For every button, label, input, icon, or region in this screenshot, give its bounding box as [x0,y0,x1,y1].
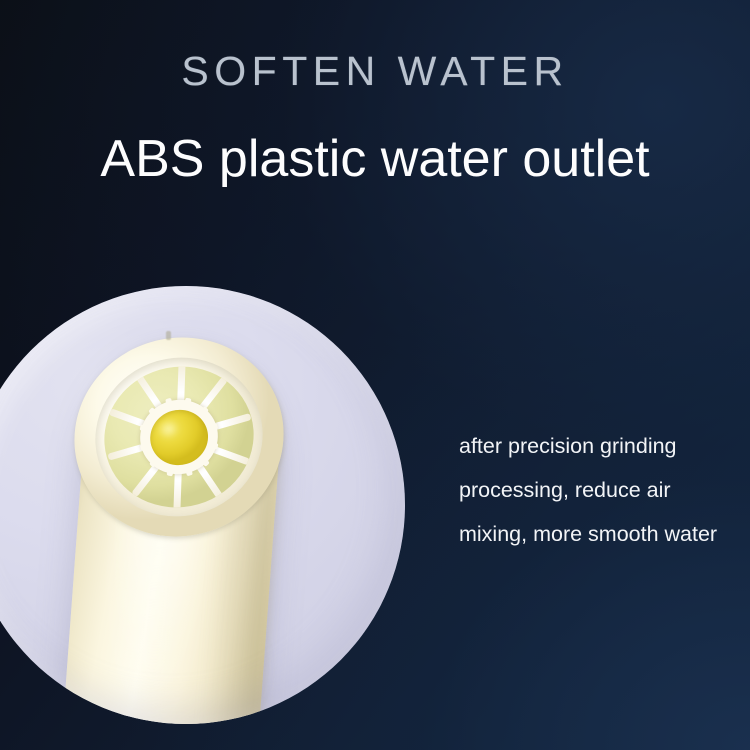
description-text: after precision grinding processing, red… [459,424,739,556]
page-title: ABS plastic water outlet [0,129,750,189]
kicker-text: SOFTEN WATER [0,48,750,95]
mould-seam-nub [166,331,171,340]
nozzle-rim-inner [76,338,281,536]
product-photo: ABS plastic water outlet nozzle close-up [0,286,405,724]
promo-banner: SOFTEN WATER ABS plastic water outlet AB… [0,0,750,750]
